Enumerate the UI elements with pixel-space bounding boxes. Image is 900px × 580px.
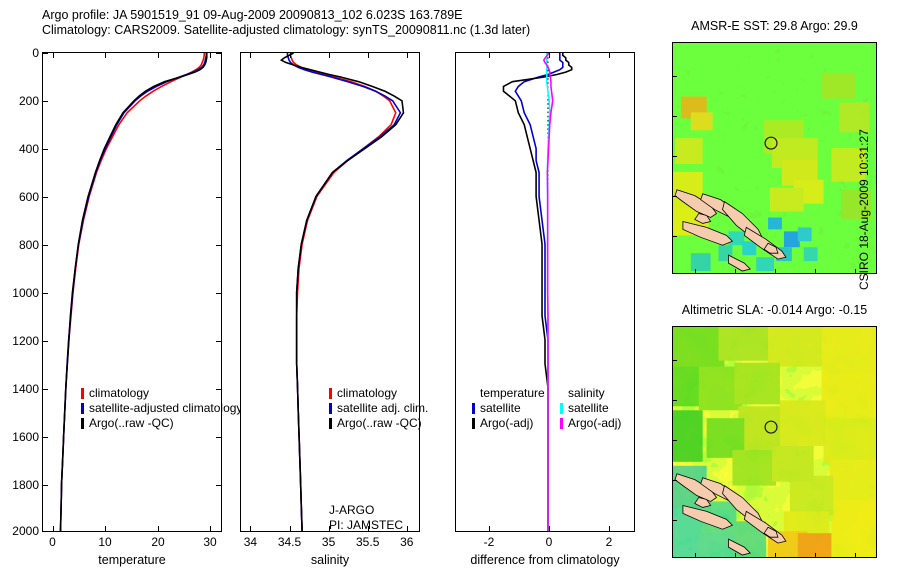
legend-entry-sal-satellite: satellite — [560, 401, 621, 416]
salinity-curves — [241, 53, 419, 531]
legend-swatch-icon — [472, 403, 475, 414]
sla-map[interactable]: -2 -4 -6 -8 -10 -12 160 162 164 166 168 — [672, 326, 877, 558]
legend-entry-argo: Argo(..raw -QC) — [81, 416, 242, 431]
salinity-tick: 34 — [244, 536, 257, 548]
curve-climatology — [61, 53, 205, 531]
curve-satellite-adjusted — [61, 53, 207, 531]
difference-profile-panel: -2 0 2 difference from climatology tempe… — [455, 52, 635, 532]
legend-label: climatology — [89, 386, 149, 401]
temperature-tick: 30 — [203, 536, 216, 548]
depth-tick: 400 — [19, 143, 39, 155]
temperature-tick: 10 — [98, 536, 111, 548]
difference-legend-temperature: temperature satellite Argo(-adj) — [472, 386, 545, 431]
legend-swatch-icon — [81, 403, 84, 414]
curve-satellite-adjusted — [287, 53, 400, 531]
difference-tick: 2 — [606, 536, 613, 548]
depth-tick: 200 — [19, 95, 39, 107]
curve-temp-satellite — [515, 53, 562, 531]
render-timestamp: CSIRO 18-Aug-2009 10:31:27 — [857, 70, 871, 290]
depth-tick: 1800 — [12, 479, 39, 491]
legend-swatch-icon — [472, 418, 475, 429]
curve-argo-raw — [281, 53, 403, 531]
temperature-tick: 20 — [151, 536, 164, 548]
depth-tick: 0 — [32, 47, 39, 59]
sst-map-title: AMSR-E SST: 29.8 Argo: 29.9 — [672, 19, 877, 33]
depth-tick: 1400 — [12, 383, 39, 395]
legend-label: climatology — [337, 386, 397, 401]
legend-swatch-icon — [81, 418, 84, 429]
legend-swatch-icon — [329, 403, 332, 414]
legend-entry-temp-satellite: satellite — [472, 401, 545, 416]
legend-label: satellite adj. clim. — [337, 401, 428, 416]
legend-label: Argo(..raw -QC) — [337, 416, 422, 431]
credit-program: J-ARGO — [329, 503, 403, 518]
legend-label: satellite — [480, 401, 521, 416]
salinity-tick: 36 — [400, 536, 413, 548]
figure-canvas: Argo profile: JA 5901519_91 09-Aug-2009 … — [0, 0, 900, 580]
legend-entry-climatology: climatology — [81, 386, 242, 401]
legend-label: Argo(-adj) — [568, 416, 621, 431]
legend-group-title: temperature — [472, 386, 545, 401]
curve-argo-raw — [61, 53, 207, 531]
sla-map-title: Altimetric SLA: -0.014 Argo: -0.15 — [672, 303, 877, 317]
depth-tick: 1200 — [12, 335, 39, 347]
title-line-profile: Argo profile: JA 5901519_91 09-Aug-2009 … — [42, 8, 662, 23]
temperature-axis-label: temperature — [98, 553, 165, 567]
legend-entry-sal-argo: Argo(-adj) — [560, 416, 621, 431]
sst-map[interactable]: -2 -4 -6 -8 -10 -12 160 162 164 166 168 — [672, 42, 877, 274]
curve-climatology — [291, 53, 396, 531]
legend-swatch-icon — [560, 403, 563, 414]
depth-tick: 2000 — [12, 525, 39, 537]
temperature-tick: 0 — [49, 536, 56, 548]
legend-entry-satellite: satellite-adjusted climatology — [81, 401, 242, 416]
salinity-tick: 35.5 — [356, 536, 379, 548]
temperature-legend: climatology satellite-adjusted climatolo… — [81, 386, 242, 431]
legend-label: Argo(..raw -QC) — [89, 416, 174, 431]
difference-legend-salinity: salinity satellite Argo(-adj) — [560, 386, 621, 431]
curve-temp-argo — [503, 53, 571, 531]
legend-swatch-icon — [81, 388, 84, 399]
temperature-curves — [43, 53, 221, 531]
legend-entry-climatology: climatology — [329, 386, 428, 401]
legend-label: Argo(-adj) — [480, 416, 533, 431]
legend-group-title: salinity — [560, 386, 621, 401]
depth-tick: 1000 — [12, 287, 39, 299]
sst-raster — [673, 43, 876, 273]
salinity-tick: 34.5 — [278, 536, 301, 548]
legend-entry-temp-argo: Argo(-adj) — [472, 416, 545, 431]
temperature-profile-panel: 0 200 400 600 800 1000 1200 1400 1600 18… — [42, 52, 222, 532]
legend-swatch-icon — [560, 418, 563, 429]
legend-swatch-icon — [329, 388, 332, 399]
legend-entry-satellite: satellite adj. clim. — [329, 401, 428, 416]
credit-pi: PI: JAMSTEC — [329, 518, 403, 533]
depth-tick: 600 — [19, 191, 39, 203]
credit-block: J-ARGO PI: JAMSTEC — [329, 503, 403, 533]
legend-label: satellite-adjusted climatology — [89, 401, 242, 416]
difference-axis-label: difference from climatology — [470, 553, 619, 567]
difference-tick: -2 — [484, 536, 495, 548]
legend-entry-argo: Argo(..raw -QC) — [329, 416, 428, 431]
salinity-legend: climatology satellite adj. clim. Argo(..… — [329, 386, 428, 431]
title-line-climatology: Climatology: CARS2009. Satellite-adjuste… — [42, 23, 662, 38]
difference-tick: 0 — [546, 536, 553, 548]
depth-tick: 800 — [19, 239, 39, 251]
salinity-profile-panel: 34 34.5 35 35.5 36 salinity climatology … — [240, 52, 420, 532]
salinity-axis-label: salinity — [311, 553, 349, 567]
legend-swatch-icon — [329, 418, 332, 429]
depth-tick: 1600 — [12, 431, 39, 443]
salinity-tick: 35 — [322, 536, 335, 548]
figure-title: Argo profile: JA 5901519_91 09-Aug-2009 … — [42, 8, 662, 38]
legend-label: satellite — [568, 401, 609, 416]
sla-raster — [673, 327, 876, 557]
difference-curves — [456, 53, 634, 531]
